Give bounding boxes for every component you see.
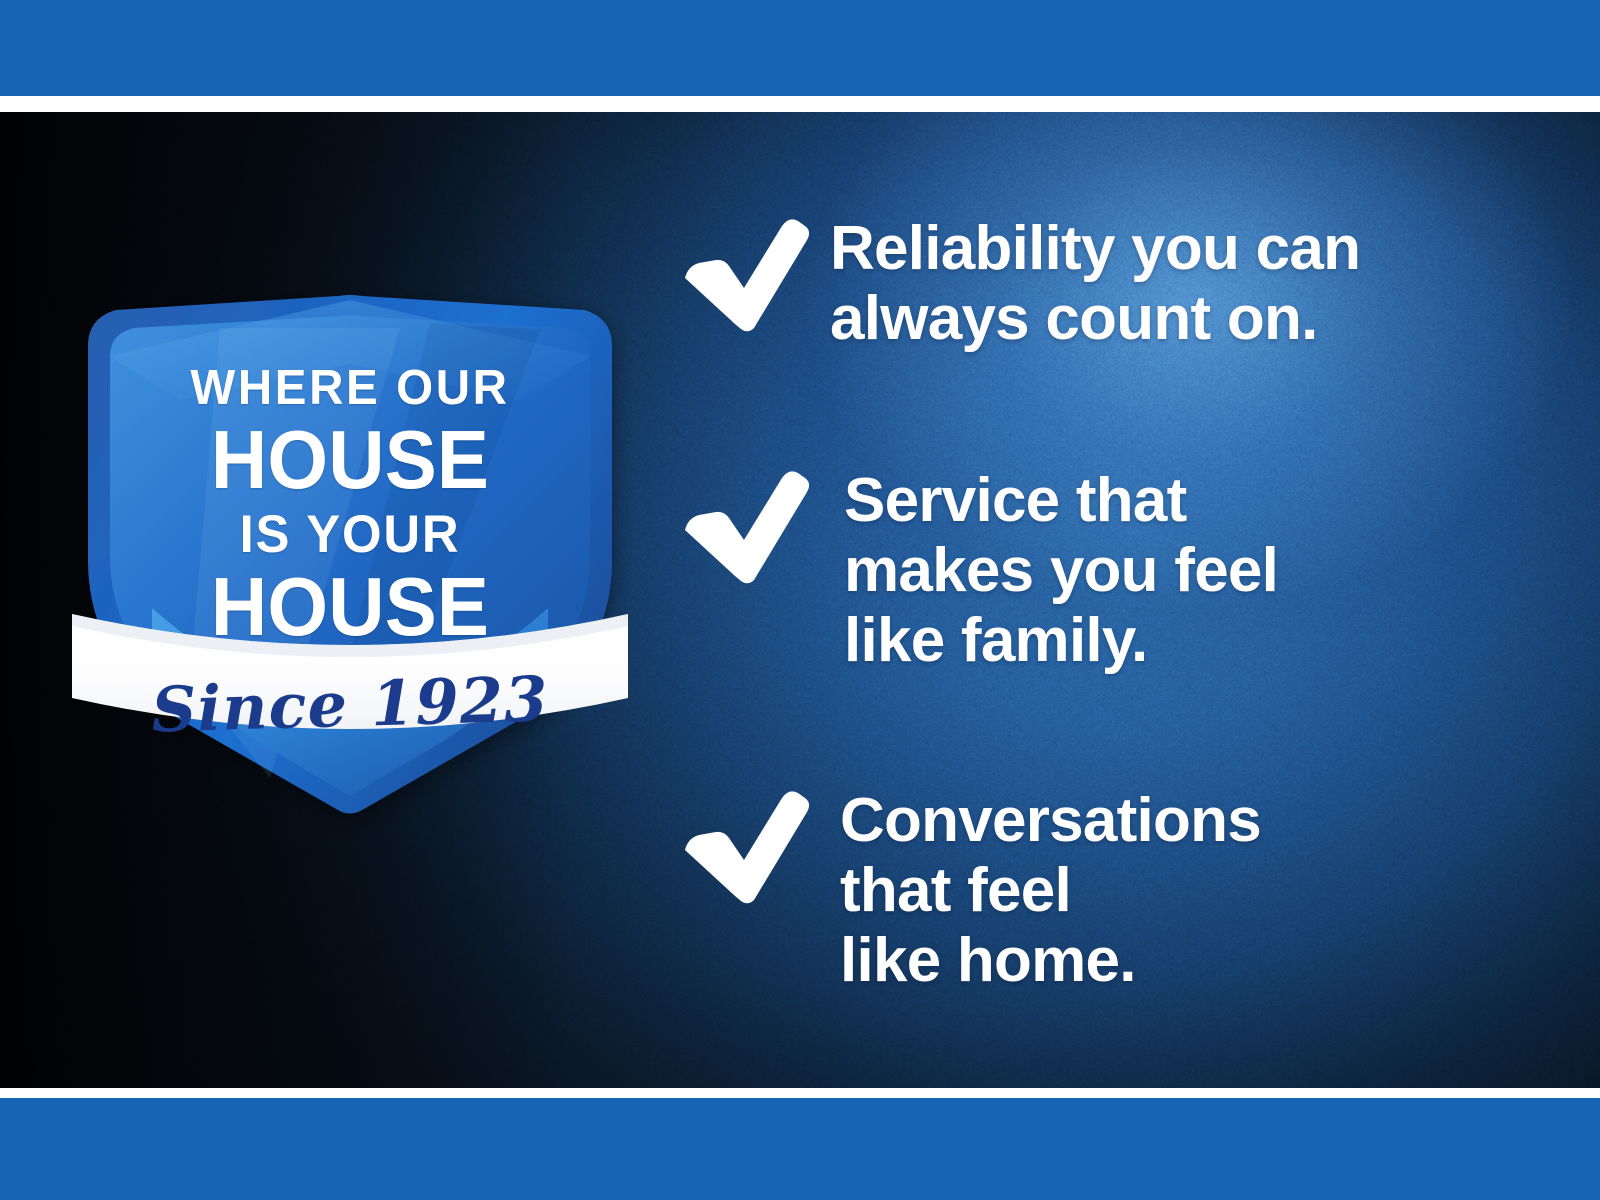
promotional-poster: WHERE OUR HOUSE IS YOUR HOUSE Since 1923… <box>0 0 1600 1200</box>
check-icon <box>672 216 812 334</box>
benefits-list: Reliability you can always count on. Ser… <box>672 112 1572 1088</box>
shield-graphic <box>70 178 630 818</box>
benefit-item: Conversations that feel like home. <box>672 784 1261 996</box>
check-icon-glyph <box>672 788 812 906</box>
benefit-item: Reliability you can always count on. <box>672 212 1360 354</box>
benefit-item: Service that makes you feel like family. <box>672 464 1278 676</box>
benefit-text: Reliability you can always count on. <box>830 214 1360 354</box>
benefit-text: Service that makes you feel like family. <box>844 466 1278 676</box>
check-icon-glyph <box>672 468 812 586</box>
check-icon-glyph <box>672 216 812 334</box>
bottom-brand-bar <box>0 1098 1600 1200</box>
check-icon <box>672 788 812 906</box>
benefit-text: Conversations that feel like home. <box>840 786 1261 996</box>
check-icon <box>672 468 812 586</box>
shield-badge: WHERE OUR HOUSE IS YOUR HOUSE Since 1923 <box>70 178 630 818</box>
top-brand-bar <box>0 0 1600 96</box>
